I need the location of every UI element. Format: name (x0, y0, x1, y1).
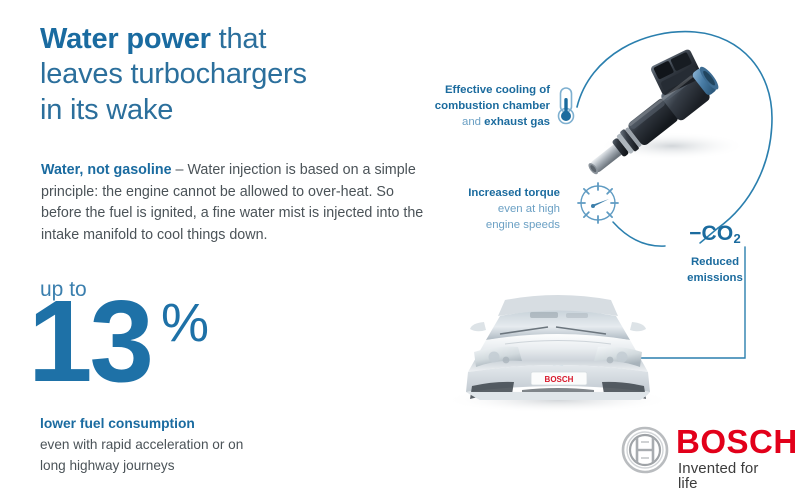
callout-torque-strong: Increased torque (468, 187, 560, 199)
co2-label: −CO2 (660, 222, 770, 246)
vehicle-hotspot-marker[interactable] (550, 350, 566, 366)
arc-injector (577, 32, 772, 228)
infographic-canvas: Water power that leaves turbochargers in… (0, 0, 800, 500)
callout-cooling-and: and (462, 116, 484, 128)
callout-torque-line1: even at high (498, 203, 560, 215)
bosch-tagline: Invented for life (678, 461, 782, 491)
callout-cooling-line1: Effective cooling of (445, 84, 550, 96)
stat-caption: lower fuel consumption even with rapid a… (40, 414, 340, 476)
stat-caption-strong: lower fuel consumption (40, 414, 340, 435)
license-plate-text: BOSCH (545, 375, 574, 384)
body-paragraph: Water, not gasoline – Water injection is… (41, 160, 433, 247)
headline-line2: leaves turbochargers (40, 58, 307, 90)
headline-rest: that (211, 23, 266, 55)
stat-unit: % (161, 296, 209, 350)
co2-subscript: 2 (733, 231, 740, 246)
co2-sub-line1: Reduced (691, 256, 739, 268)
callout-torque-line2: engine speeds (486, 219, 560, 231)
headline-strong: Water power (40, 23, 211, 55)
bosch-logo: BOSCH Invented for life (620, 425, 782, 483)
bosch-armature-symbol (620, 425, 670, 475)
co2-prefix: −CO (689, 222, 733, 245)
bosch-wordmark: BOSCH (676, 425, 798, 458)
callout-reduced-co2: −CO2 Reduced emissions (660, 222, 770, 286)
callout-increased-torque: Increased torque even at high engine spe… (430, 185, 560, 234)
callout-effective-cooling: Effective cooling of combustion chamber … (398, 82, 550, 131)
page-title: Water power that leaves turbochargers in… (40, 22, 420, 128)
stat-caption-line1: even with rapid acceleration or on (40, 437, 243, 452)
callout-cooling-line2: combustion chamber (435, 100, 550, 112)
curve-gauge-to-co2 (613, 222, 665, 246)
co2-sublabel: Reduced emissions (660, 254, 770, 286)
body-lead: Water, not gasoline (41, 162, 172, 178)
stat-value: 13 (28, 288, 151, 395)
stat-figure: 13 % (28, 288, 209, 395)
stat-caption-line2: long highway journeys (40, 458, 175, 473)
co2-sub-line2: emissions (687, 272, 743, 284)
callout-cooling-line3: exhaust gas (484, 116, 550, 128)
headline-line3: in its wake (40, 94, 173, 126)
